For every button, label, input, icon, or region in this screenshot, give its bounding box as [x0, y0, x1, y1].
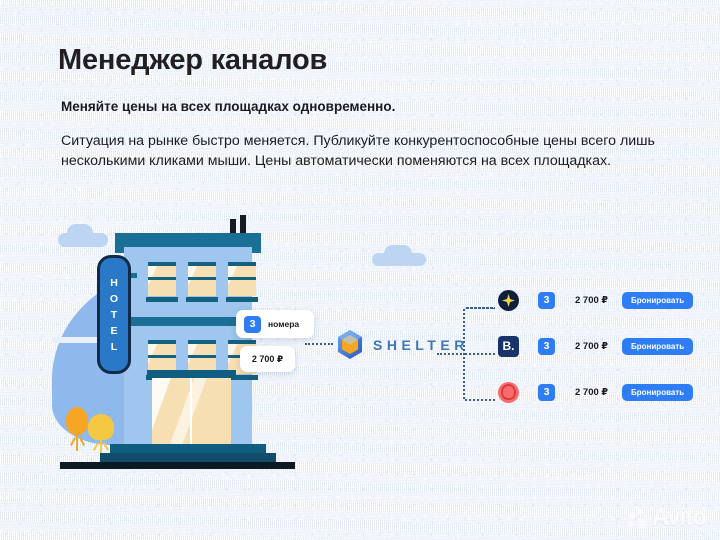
shelter-logo: SHELTER [336, 329, 469, 360]
channel-price: 2 700 ₽ [575, 341, 608, 352]
connector-dotted-line [305, 343, 333, 345]
cloud-icon [372, 253, 426, 266]
airbnb-circle-icon [498, 382, 519, 403]
shelter-wordmark: SHELTER [373, 337, 469, 353]
illustration: H O T E L 3 номера 2 700 ₽ [0, 215, 720, 485]
hotel-sign-letter: E [110, 325, 117, 337]
rooms-card-label: номера [268, 319, 299, 329]
room-count-badge: 3 [538, 384, 555, 401]
building-step [110, 444, 266, 453]
page-title: Менеджер каналов [58, 44, 327, 77]
tree-icon [88, 414, 114, 440]
window-icon [188, 340, 216, 374]
hotel-sign-letter: T [111, 309, 117, 321]
avito-dots-icon [628, 509, 647, 528]
avito-watermark: Avito [628, 504, 706, 532]
ground-line [60, 462, 295, 469]
book-button[interactable]: Бронировать [622, 384, 693, 401]
book-button[interactable]: Бронировать [622, 292, 693, 309]
channel-list: 3 2 700 ₽ Бронировать B. 3 2 700 ₽ Брони… [498, 289, 693, 427]
cloud-icon [58, 233, 108, 247]
price-card: 2 700 ₽ [240, 346, 295, 372]
hotel-sign: H O T E L [97, 255, 131, 374]
hotel-sign-letter: O [110, 293, 118, 305]
window-icon [148, 262, 176, 296]
branch-bracket [463, 303, 497, 405]
hexagon-cube-icon [336, 329, 364, 360]
star-circle-icon [498, 290, 519, 311]
rooms-count-badge: 3 [244, 316, 261, 333]
room-count-badge: 3 [538, 338, 555, 355]
hotel-sign-letter: H [110, 277, 118, 289]
channel-row: B. 3 2 700 ₽ Бронировать [498, 335, 693, 357]
window-icon [188, 262, 216, 296]
chimney-icon [240, 215, 246, 233]
body-paragraph: Ситуация на рынке быстро меняется. Публи… [61, 131, 661, 171]
subtitle-lede: Меняйте цены на всех площадках одновреме… [61, 99, 395, 114]
price-card-value: 2 700 ₽ [252, 354, 283, 365]
tree-icon [66, 407, 88, 435]
room-count-badge: 3 [538, 292, 555, 309]
booking-b-icon: B. [498, 336, 519, 357]
channel-row: 3 2 700 ₽ Бронировать [498, 289, 693, 311]
book-button[interactable]: Бронировать [622, 338, 693, 355]
building-step [100, 453, 276, 462]
window-icon [228, 262, 256, 296]
hotel-sign-letter: L [111, 341, 117, 353]
channel-price: 2 700 ₽ [575, 387, 608, 398]
avito-wordmark: Avito [652, 504, 706, 532]
channel-row: 3 2 700 ₽ Бронировать [498, 381, 693, 403]
window-icon [148, 340, 176, 374]
chimney-icon [230, 219, 236, 233]
channel-price: 2 700 ₽ [575, 295, 608, 306]
rooms-card: 3 номера [236, 310, 314, 338]
slide-canvas: Менеджер каналов Меняйте цены на всех пл… [0, 0, 720, 540]
door-divider [190, 378, 192, 450]
